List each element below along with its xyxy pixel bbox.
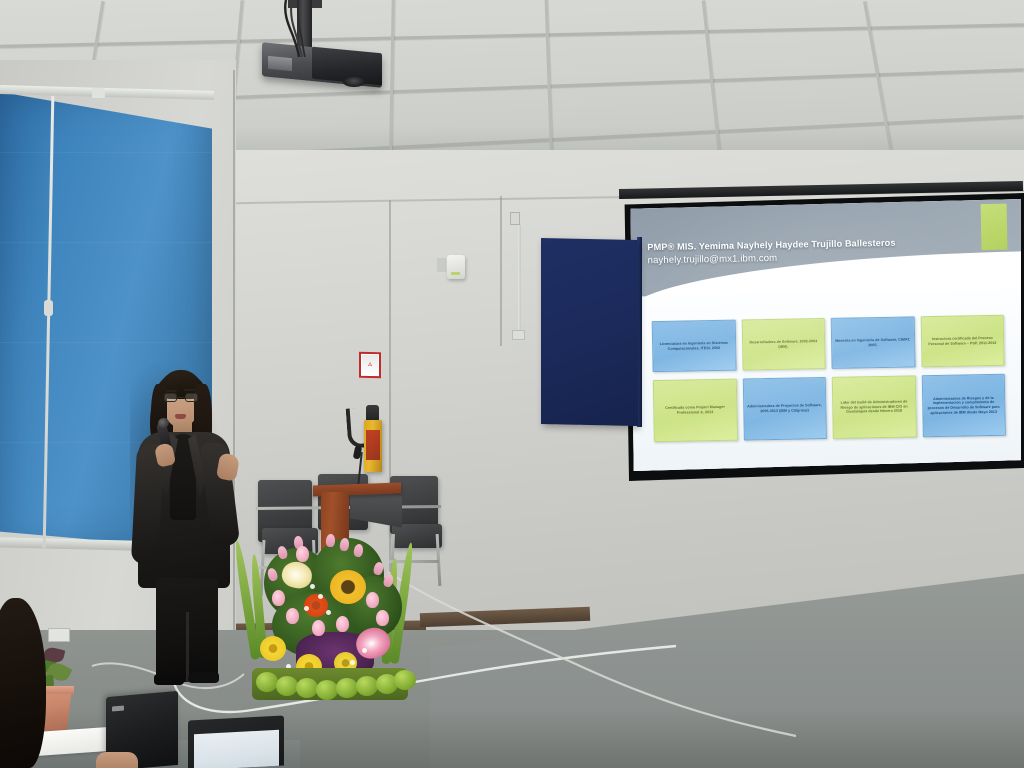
laptop-display[interactable] bbox=[194, 730, 279, 768]
projection-screen: PMP® MIS. Yemima Nayhely Haydee Trujillo… bbox=[629, 199, 1021, 471]
presenter-shoe-right bbox=[188, 672, 219, 683]
slide-box-row-1: Licenciatura en Ingeniería en Sistemas C… bbox=[652, 315, 1005, 372]
sensor-led bbox=[451, 272, 460, 275]
wall-outlet-plate bbox=[48, 628, 70, 642]
presenter-shoe-left bbox=[154, 674, 184, 685]
audience-member-hand bbox=[96, 752, 138, 768]
slide-box: Desarrolladora de Software, 2002-2004 (I… bbox=[741, 318, 825, 371]
slide-box: Líder del Guild de Administradores de Ri… bbox=[832, 375, 917, 439]
floral-arrangement bbox=[238, 528, 424, 710]
slide-box: Administradora de Proyectos de Software,… bbox=[742, 377, 827, 441]
slide-box-row-2: Certificada como Project Manager Profess… bbox=[653, 374, 1006, 442]
navy-wall-board bbox=[541, 238, 638, 426]
slide-box: Certificada como Project Manager Profess… bbox=[653, 379, 738, 443]
slide-box: Maestría en Ingeniería de Software, CIMA… bbox=[831, 316, 915, 369]
motion-sensor bbox=[447, 255, 465, 279]
wall-outlet bbox=[510, 212, 520, 225]
laptop-logo bbox=[112, 705, 124, 711]
sensor-bracket bbox=[437, 258, 446, 272]
conduit-junction-box bbox=[512, 330, 525, 340]
blind-cord-knob[interactable] bbox=[44, 300, 53, 316]
presentation-slide: PMP® MIS. Yemima Nayhely Haydee Trujillo… bbox=[629, 199, 1021, 471]
projector-lens bbox=[343, 77, 365, 87]
slide-presenter-name: PMP® MIS. Yemima Nayhely Haydee Trujillo… bbox=[647, 238, 895, 253]
projector-vent bbox=[268, 56, 292, 71]
presenter-gesturing-hand bbox=[216, 452, 240, 481]
slide-box: Administradora de Riesgos y de la implem… bbox=[921, 374, 1006, 438]
blind-bracket bbox=[92, 88, 105, 98]
fire-extinguisher-label bbox=[366, 430, 380, 460]
presentation-room-photo: PMP® MIS. Yemima Nayhely Haydee Trujillo… bbox=[0, 0, 1024, 768]
gerbera-yellow bbox=[260, 636, 286, 661]
projector-cables bbox=[280, 0, 310, 58]
slide-box: Instructora certificada del Proceso Pers… bbox=[920, 315, 1004, 368]
presenter bbox=[126, 366, 244, 686]
sunflower bbox=[330, 570, 366, 604]
fire-extinguisher-sign-glyph: 🜂 bbox=[362, 355, 378, 375]
presenter-glasses bbox=[164, 393, 198, 402]
presenter-mouth bbox=[175, 414, 186, 419]
wall-conduit bbox=[518, 225, 521, 335]
slide-box-grid: Licenciatura en Ingeniería en Sistemas C… bbox=[652, 315, 1006, 442]
slide-box: Licenciatura en Ingeniería en Sistemas C… bbox=[652, 320, 736, 373]
